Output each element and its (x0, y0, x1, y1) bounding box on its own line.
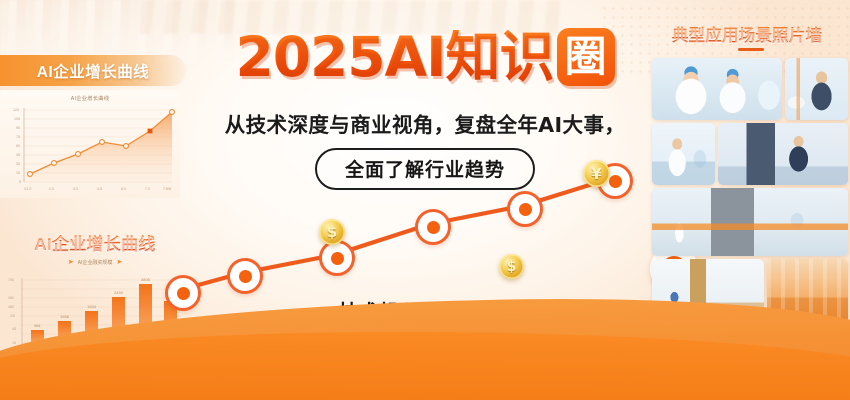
photo-image (718, 123, 848, 185)
hero-node-dot (519, 203, 532, 216)
yen-coin-right: ¥ (583, 160, 610, 187)
photo-medical-equipment[interactable] (652, 123, 715, 185)
dollar-coin-mid: $ (499, 254, 524, 279)
hero-node-dot (239, 270, 252, 283)
photo-image (652, 188, 848, 256)
hero-line-chart (150, 150, 710, 310)
photo-row-3 (652, 188, 848, 256)
hero-node-dot (331, 252, 344, 265)
legend-arrow-right-icon: ➤ (116, 258, 122, 266)
hero-node-5[interactable] (507, 191, 543, 227)
growth-curve-card-title: AI企业增长曲线 (37, 60, 150, 82)
svg-text:3.0: 3.0 (73, 187, 78, 191)
poster-title: 2025AI知识 (235, 30, 553, 85)
photo-wall-title: 典型应用场景照片墙 (650, 22, 844, 46)
svg-text:45: 45 (16, 153, 20, 157)
dollar-coin-mid-symbol: $ (507, 259, 517, 275)
photo-image (785, 58, 848, 120)
hero-node-3[interactable] (319, 240, 355, 276)
svg-text:V1.0: V1.0 (24, 187, 31, 191)
hero-node-dot (609, 175, 622, 188)
growth-curve-card-header: AI企业增长曲线 (0, 55, 186, 86)
svg-text:30: 30 (16, 162, 20, 166)
hero-node-dot (427, 221, 440, 234)
dollar-coin-upper-symbol: $ (327, 223, 337, 241)
svg-text:15: 15 (16, 171, 20, 175)
photo-lab-technician[interactable] (785, 58, 848, 120)
svg-text:2450: 2450 (114, 290, 124, 295)
svg-text:700: 700 (8, 278, 14, 282)
svg-text:15: 15 (12, 341, 16, 345)
svg-text:45: 45 (12, 327, 16, 331)
growth-curve-chart-caption: AI企业增长曲线 (0, 95, 180, 102)
photo-image (652, 123, 715, 185)
svg-text:6.0: 6.0 (121, 187, 126, 191)
poster-canvas: AI企业增长曲线 AI企业增长曲线 (0, 0, 850, 400)
photo-office-workstation[interactable] (718, 123, 848, 185)
photo-doctors-discussion[interactable] (652, 58, 782, 120)
svg-text:4.5: 4.5 (97, 187, 102, 191)
background-photo-strip (140, 0, 560, 34)
photo-image (652, 58, 782, 120)
hero-node-2[interactable] (227, 258, 263, 294)
photo-row-2 (652, 123, 848, 185)
dollar-coin-upper: $ (319, 219, 345, 245)
photo-row-1 (652, 58, 848, 120)
hero-node-4[interactable] (415, 209, 451, 245)
photo-wall-grid (652, 58, 848, 328)
yen-coin-right-symbol: ¥ (591, 165, 601, 183)
svg-text:2.0: 2.0 (49, 187, 54, 191)
svg-text:60: 60 (16, 144, 20, 148)
photo-factory-automation[interactable] (652, 188, 848, 256)
funding-scale-card-title: AI企业增长曲线 (34, 235, 155, 254)
svg-text:0: 0 (19, 180, 21, 184)
photo-wall-title-underline (738, 48, 764, 51)
legend-arrow-left-icon: ➤ (68, 258, 74, 266)
funding-scale-legend-label: AI企业融资规模 (78, 259, 113, 266)
